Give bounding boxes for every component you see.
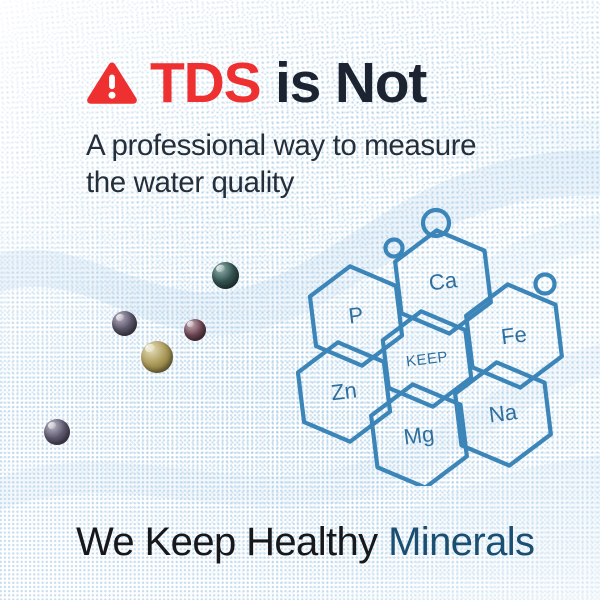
hex-mg-label: Mg <box>402 421 435 450</box>
poster-footer: We Keep Healthy Minerals <box>76 520 534 565</box>
mineral-sphere-maroon <box>184 319 206 341</box>
hex-ca-label: Ca <box>427 267 459 295</box>
mineral-sphere-slate <box>112 311 137 336</box>
mineral-sphere-gold <box>141 341 173 373</box>
tds-poster: TDS is Not A professional way to measure… <box>0 0 600 600</box>
headline-block: TDS is Not A professional way to measure… <box>86 52 556 202</box>
ring-2 <box>386 240 403 257</box>
hex-p-label: P <box>347 302 365 329</box>
footer-text-blue: Minerals <box>388 520 534 564</box>
mineral-sphere-grey <box>44 419 70 445</box>
title-row: TDS is Not <box>86 52 556 114</box>
poster-title: TDS is Not <box>150 55 426 112</box>
warning-triangle-icon <box>86 60 138 106</box>
mineral-sphere-teal <box>212 262 239 289</box>
hex-keep-label: KEEP <box>405 348 449 370</box>
hex-fe-label: Fe <box>500 321 529 349</box>
poster-subtitle: A professional way to measure the water … <box>86 128 556 202</box>
footer-text-dark: We Keep Healthy <box>76 520 378 564</box>
hex-zn-label: Zn <box>330 377 359 405</box>
mineral-hexagon-diagram: PCaKEEPFeZnMgNa <box>288 196 588 486</box>
title-red-text: TDS <box>150 51 260 115</box>
title-dark-text: is Not <box>275 51 426 115</box>
ring-3 <box>536 275 555 294</box>
subtitle-line-1: A professional way to measure <box>86 128 556 165</box>
hex-na-label: Na <box>487 399 519 427</box>
